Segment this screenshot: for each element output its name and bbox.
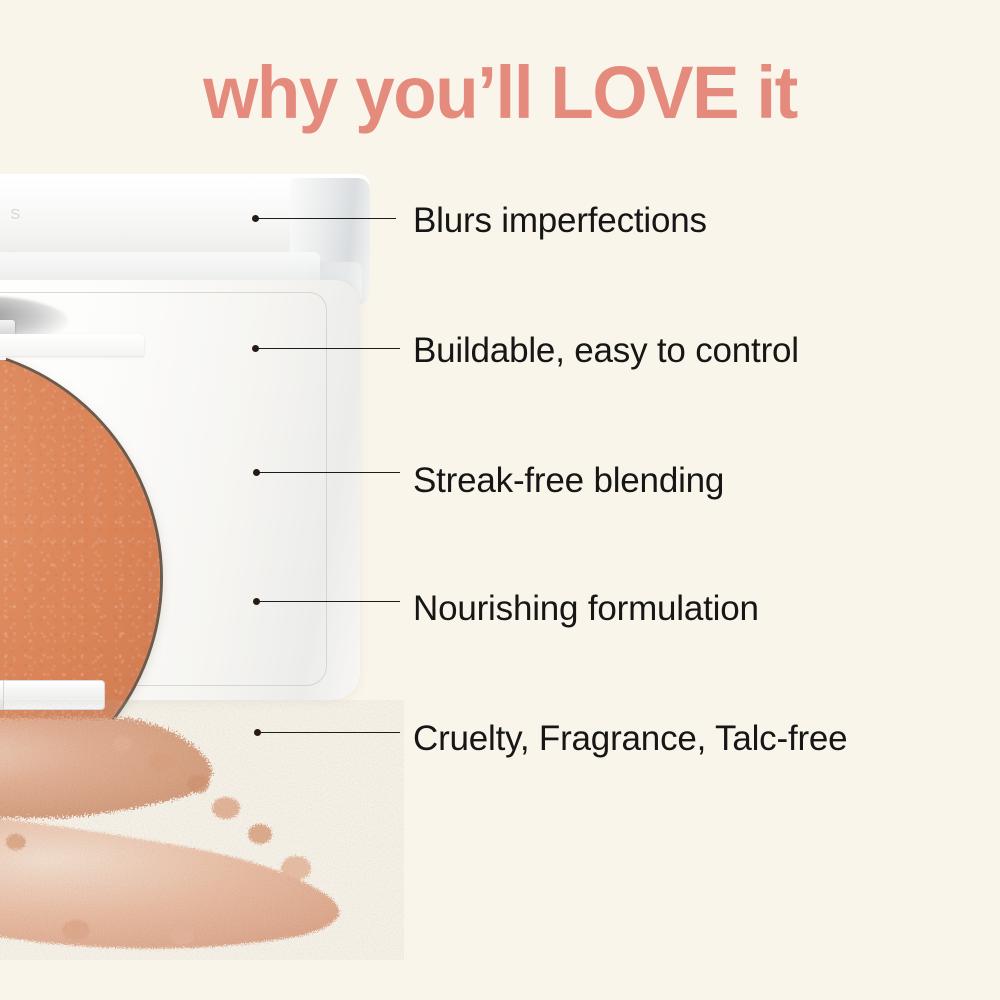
powder-lower-band [0,800,339,948]
compact-bottom-tabs [0,680,105,710]
feature-label-buildable-easy-to-control: Buildable, easy to control [413,333,799,368]
blush-powder-pan [0,348,160,808]
page-title: why you’ll LOVE it [20,56,980,130]
brand-emboss-text: HALEYS [0,206,41,223]
feature-label-blurs-imperfections: Blurs imperfections [413,203,707,238]
feature-label-streak-free-blending: Streak-free blending [413,463,724,498]
feature-label-cruelty-fragrance-talc-free: Cruelty, Fragrance, Talc-free [413,721,847,756]
promo-graphic: why you’ll LOVE it HALEYS HALEYS [0,0,1000,1000]
leader-line [257,472,400,473]
leader-line [258,732,400,733]
blush-pan-lip [0,334,144,356]
leader-line [256,218,396,219]
leader-line [256,348,400,349]
leader-line [257,601,400,602]
feature-label-nourishing-formulation: Nourishing formulation [413,591,759,626]
product-compact-image: HALEYS HALEYS [0,168,380,728]
